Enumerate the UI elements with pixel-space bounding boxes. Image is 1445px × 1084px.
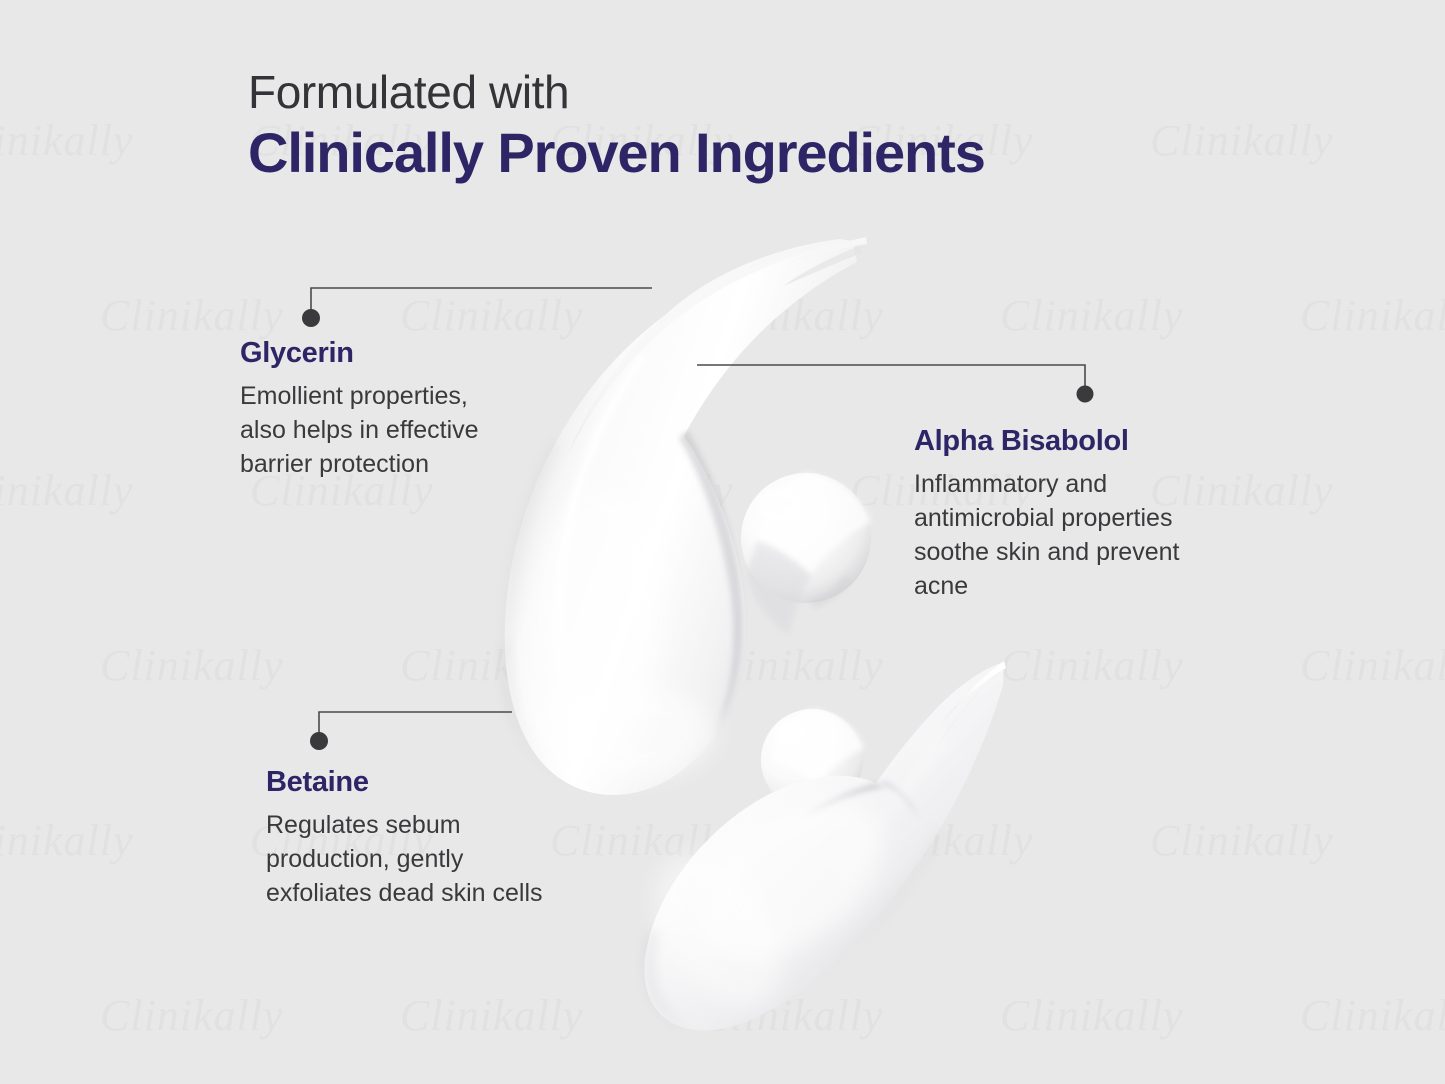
watermark-text: Clinikally: [1300, 290, 1445, 341]
callout-title-betaine: Betaine: [266, 765, 546, 800]
watermark-text: Clinikally: [100, 640, 284, 691]
callout-alpha-bisabolol: Alpha Bisabolol Inflammatory and antimic…: [914, 424, 1234, 603]
callout-description-betaine: Regulates sebum production, gently exfol…: [266, 808, 546, 910]
cream-dollop-small: [761, 709, 864, 811]
connector-dot-alpha-bisabolol: [1077, 386, 1094, 403]
watermark-text: Clinikally: [0, 465, 134, 516]
heading-block: Formulated with Clinically Proven Ingred…: [248, 68, 985, 184]
heading-eyebrow: Formulated with: [248, 68, 985, 118]
watermark-text: Clinikally: [1300, 640, 1445, 691]
connector-dot-betaine: [310, 732, 328, 750]
watermark-text: Clinikally: [1000, 640, 1184, 691]
callout-betaine: Betaine Regulates sebum production, gent…: [266, 765, 546, 910]
watermark-text: Clinikally: [550, 815, 734, 866]
connector-glycerin: [311, 288, 652, 312]
watermark-text: Clinikally: [0, 115, 134, 166]
callout-title-alpha-bisabolol: Alpha Bisabolol: [914, 424, 1234, 459]
watermark-text: Clinikally: [1000, 990, 1184, 1041]
watermark-text: Clinikally: [1000, 290, 1184, 341]
connector-betaine: [319, 712, 512, 735]
callout-glycerin: Glycerin Emollient properties, also help…: [240, 336, 510, 481]
watermark-text: Clinikally: [100, 290, 284, 341]
cream-swoosh-large: [503, 237, 867, 795]
watermark-text: Clinikally: [700, 290, 884, 341]
watermark-text: Clinikally: [850, 815, 1034, 866]
callout-description-alpha-bisabolol: Inflammatory and antimicrobial propertie…: [914, 467, 1234, 603]
watermark-text: Clinikally: [700, 640, 884, 691]
infographic-canvas: ClinikallyClinikallyClinikallyClinikally…: [0, 0, 1445, 1084]
watermark-text: Clinikally: [400, 290, 584, 341]
connector-alpha-bisabolol: [697, 365, 1085, 388]
watermark-text: Clinikally: [1150, 115, 1334, 166]
watermark-text: Clinikally: [400, 640, 584, 691]
watermark-text: Clinikally: [400, 990, 584, 1041]
watermark-text: Clinikally: [700, 990, 884, 1041]
watermark-text: Clinikally: [1150, 815, 1334, 866]
cream-swoosh-small: [628, 661, 1006, 1031]
watermark-text: Clinikally: [1300, 990, 1445, 1041]
heading-headline: Clinically Proven Ingredients: [248, 122, 985, 185]
cream-dollop-large: [741, 473, 871, 635]
callout-description-glycerin: Emollient properties, also helps in effe…: [240, 379, 510, 481]
watermark-text: Clinikally: [550, 465, 734, 516]
connector-dot-glycerin: [302, 309, 320, 327]
watermark-text: Clinikally: [100, 990, 284, 1041]
callout-title-glycerin: Glycerin: [240, 336, 510, 371]
watermark-text: Clinikally: [0, 815, 134, 866]
